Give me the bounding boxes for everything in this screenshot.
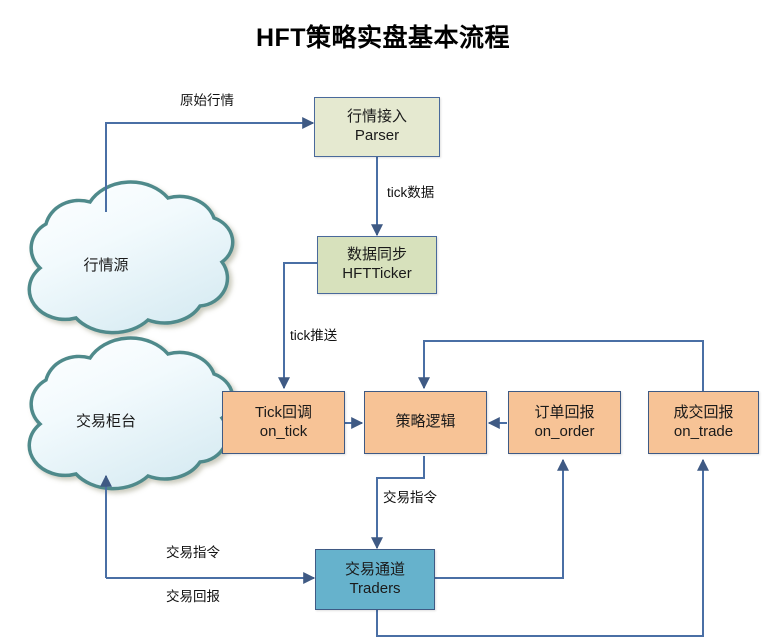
node-on-tick[interactable]: Tick回调 on_tick — [222, 391, 345, 454]
node-on-tick-line2: on_tick — [260, 423, 308, 442]
edge-label-tick-data: tick数据 — [387, 181, 434, 201]
edge-label-order-to-gateway: 交易指令 — [166, 541, 220, 561]
node-on-order-line1: 订单回报 — [534, 404, 594, 423]
node-ticker-line2: HFTTicker — [342, 265, 411, 284]
node-parser-line2: Parser — [355, 127, 399, 146]
node-on-tick-line1: Tick回调 — [255, 404, 312, 423]
node-strategy[interactable]: 策略逻辑 — [364, 391, 487, 454]
edge-label-trade-report: 交易回报 — [166, 585, 220, 605]
node-on-order[interactable]: 订单回报 on_order — [508, 391, 621, 454]
node-on-trade-line1: 成交回报 — [673, 404, 733, 423]
node-ticker-line1: 数据同步 — [347, 246, 407, 265]
node-traders-line1: 交易通道 — [345, 561, 405, 580]
node-on-order-line2: on_order — [534, 423, 594, 442]
edge-traders-to-onorder — [434, 460, 563, 578]
node-on-trade-line2: on_trade — [674, 423, 733, 442]
diagram-canvas: HFT策略实盘基本流程 — [0, 0, 766, 643]
node-on-trade[interactable]: 成交回报 on_trade — [648, 391, 759, 454]
edge-label-trade-order: 交易指令 — [383, 486, 437, 506]
node-strategy-line1: 策略逻辑 — [395, 413, 455, 432]
node-parser[interactable]: 行情接入 Parser — [314, 97, 440, 157]
node-ticker[interactable]: 数据同步 HFTTicker — [317, 236, 437, 294]
cloud-trade-counter — [29, 338, 232, 489]
edge-ontrade-to-strategy — [424, 341, 703, 392]
node-traders[interactable]: 交易通道 Traders — [315, 549, 435, 610]
node-traders-line2: Traders — [349, 580, 400, 599]
cloud-market-source — [29, 182, 232, 333]
edge-label-tick-push: tick推送 — [290, 324, 337, 344]
edge-label-raw-quote: 原始行情 — [180, 89, 234, 109]
node-parser-line1: 行情接入 — [347, 108, 407, 127]
